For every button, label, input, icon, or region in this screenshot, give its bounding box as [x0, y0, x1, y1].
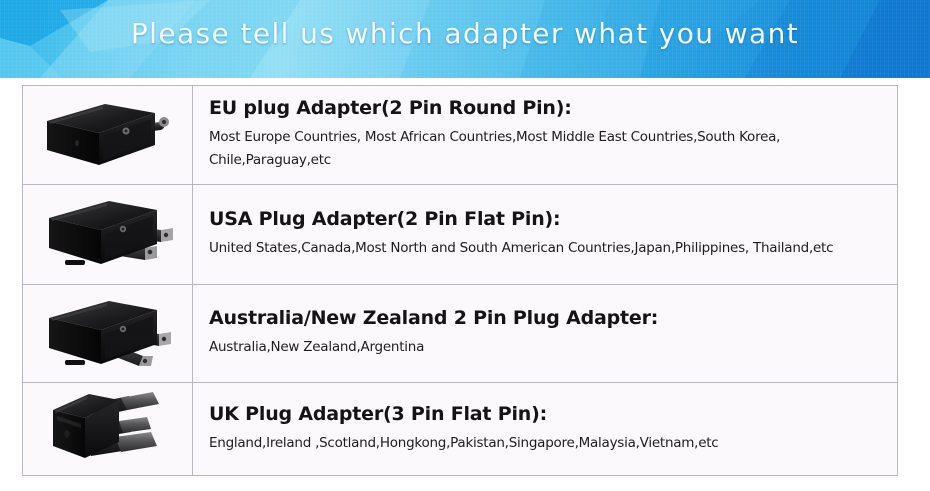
- table-row[interactable]: USA Plug Adapter(2 Pin Flat Pin): United…: [23, 185, 897, 285]
- banner-title: Please tell us which adapter what you wa…: [0, 17, 930, 50]
- adapter-options-table: EU plug Adapter(2 Pin Round Pin): Most E…: [22, 85, 898, 476]
- eu-plug-adapter-photo: [33, 91, 183, 179]
- adapter-description: Most Europe Countries, Most African Coun…: [209, 126, 879, 171]
- page-banner: Please tell us which adapter what you wa…: [0, 0, 930, 78]
- adapter-image-cell: [23, 86, 193, 184]
- adapter-title: EU plug Adapter(2 Pin Round Pin):: [209, 97, 883, 121]
- usa-plug-adapter-photo: [33, 190, 183, 280]
- adapter-description: England,Ireland ,Scotland,Hongkong,Pakis…: [209, 432, 879, 455]
- adapter-description: United States,Canada,Most North and Sout…: [209, 237, 879, 260]
- adapter-text-cell: Australia/New Zealand 2 Pin Plug Adapter…: [193, 285, 897, 382]
- adapter-image-cell: [23, 285, 193, 382]
- adapter-text-cell: USA Plug Adapter(2 Pin Flat Pin): United…: [193, 185, 897, 284]
- adapter-image-cell: [23, 383, 193, 475]
- table-row[interactable]: EU plug Adapter(2 Pin Round Pin): Most E…: [23, 86, 897, 185]
- uk-plug-adapter-photo: [33, 386, 183, 472]
- australia-new-zealand-plug-adapter-photo: [33, 290, 183, 378]
- adapter-description: Australia,New Zealand,Argentina: [209, 336, 879, 359]
- adapter-title: Australia/New Zealand 2 Pin Plug Adapter…: [209, 307, 883, 331]
- adapter-image-cell: [23, 185, 193, 284]
- table-row[interactable]: Australia/New Zealand 2 Pin Plug Adapter…: [23, 285, 897, 383]
- adapter-text-cell: EU plug Adapter(2 Pin Round Pin): Most E…: [193, 86, 897, 184]
- table-row[interactable]: UK Plug Adapter(3 Pin Flat Pin): England…: [23, 383, 897, 475]
- adapter-text-cell: UK Plug Adapter(3 Pin Flat Pin): England…: [193, 383, 897, 475]
- adapter-title: UK Plug Adapter(3 Pin Flat Pin):: [209, 403, 883, 427]
- adapter-title: USA Plug Adapter(2 Pin Flat Pin):: [209, 208, 883, 232]
